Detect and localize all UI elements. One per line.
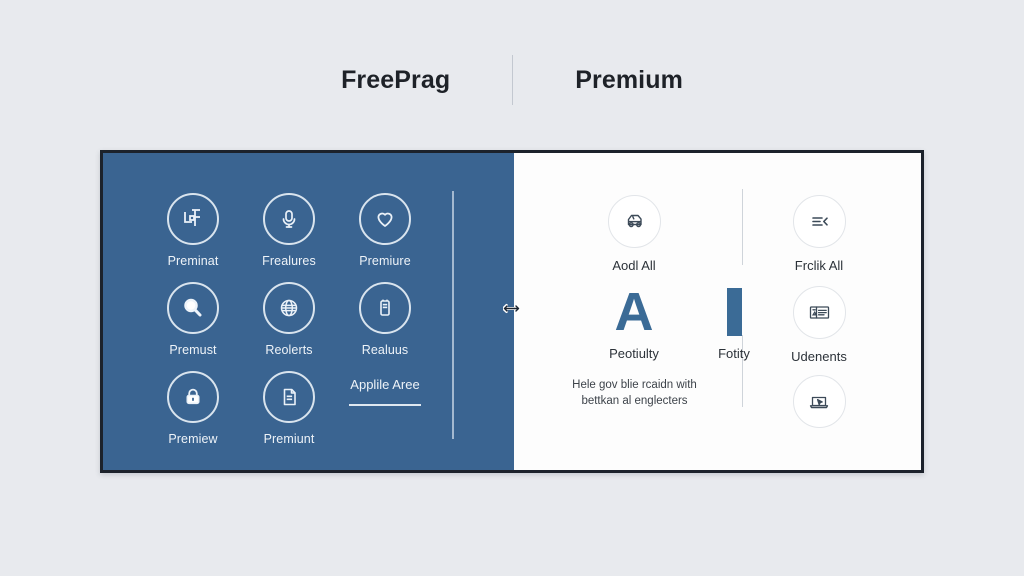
body-text-line1: Hele gov blie rcaidn with — [532, 377, 737, 393]
left-item-premiure[interactable]: Premiure — [337, 193, 433, 282]
right-item-label: Fotity — [718, 346, 750, 361]
right-panel-body-text: Hele gov blie rcaidn with bettkan al eng… — [532, 377, 737, 409]
main-panel-frame: Preminat Frealures — [100, 150, 924, 473]
right-item-aodl-all[interactable]: Aodl All — [574, 195, 694, 273]
right-item-frclik-all[interactable]: Frclik All — [759, 195, 879, 273]
right-panel-divider-top — [742, 189, 743, 265]
left-item-label: Realuus — [362, 343, 409, 357]
document-icon — [263, 371, 315, 423]
vehicle-icon — [608, 195, 661, 248]
left-item-reolerts[interactable]: Reolerts — [241, 282, 337, 371]
applile-area-label: Applile Aree — [350, 377, 419, 392]
right-item-udenents[interactable]: Udenents — [759, 286, 879, 364]
left-icon-grid: Preminat Frealures — [145, 193, 435, 460]
left-item-label: Premiure — [359, 254, 411, 268]
search-icon — [167, 282, 219, 334]
heart-icon — [359, 193, 411, 245]
right-panel: Aodl All Frclik All A Peotiulty Fotity — [514, 153, 921, 470]
left-item-label: Premiew — [168, 432, 217, 446]
body-text-line2: bettkan al englecters — [532, 393, 737, 409]
mobile-device-icon — [359, 282, 411, 334]
letter-i-glyph — [727, 288, 742, 336]
left-item-premust[interactable]: Premust — [145, 282, 241, 371]
right-item-label: Udenents — [791, 349, 847, 364]
left-item-preminat[interactable]: Preminat — [145, 193, 241, 282]
left-item-realuus[interactable]: Realuus — [337, 282, 433, 371]
microphone-icon — [263, 193, 315, 245]
left-panel-divider — [452, 191, 454, 439]
layers-logo-icon — [167, 193, 219, 245]
globe-icon — [263, 282, 315, 334]
right-item-label: Peotiulty — [609, 346, 659, 361]
left-item-label: Frealures — [262, 254, 316, 268]
id-card-icon — [793, 286, 846, 339]
letter-a-glyph: A — [615, 288, 654, 336]
right-item-laptop[interactable] — [759, 375, 879, 428]
left-panel: Preminat Frealures — [103, 153, 514, 470]
left-item-label: Premust — [169, 343, 216, 357]
header-tabbar: FreePrag Premium — [0, 52, 1024, 108]
tab-freeprag[interactable]: FreePrag — [279, 66, 512, 95]
right-item-label: Aodl All — [612, 258, 655, 273]
applile-area-underline — [349, 404, 421, 406]
applile-area-block[interactable]: Applile Aree — [337, 371, 433, 460]
list-collapse-icon — [793, 195, 846, 248]
laptop-cursor-icon — [793, 375, 846, 428]
left-item-premiunt[interactable]: Premiunt — [241, 371, 337, 460]
left-item-premiew[interactable]: Premiew — [145, 371, 241, 460]
left-item-label: Premiunt — [264, 432, 315, 446]
left-item-label: Reolerts — [265, 343, 312, 357]
right-item-label: Frclik All — [795, 258, 843, 273]
tab-premium[interactable]: Premium — [513, 66, 745, 95]
left-item-label: Preminat — [168, 254, 219, 268]
lock-icon — [167, 371, 219, 423]
left-item-frealures[interactable]: Frealures — [241, 193, 337, 282]
